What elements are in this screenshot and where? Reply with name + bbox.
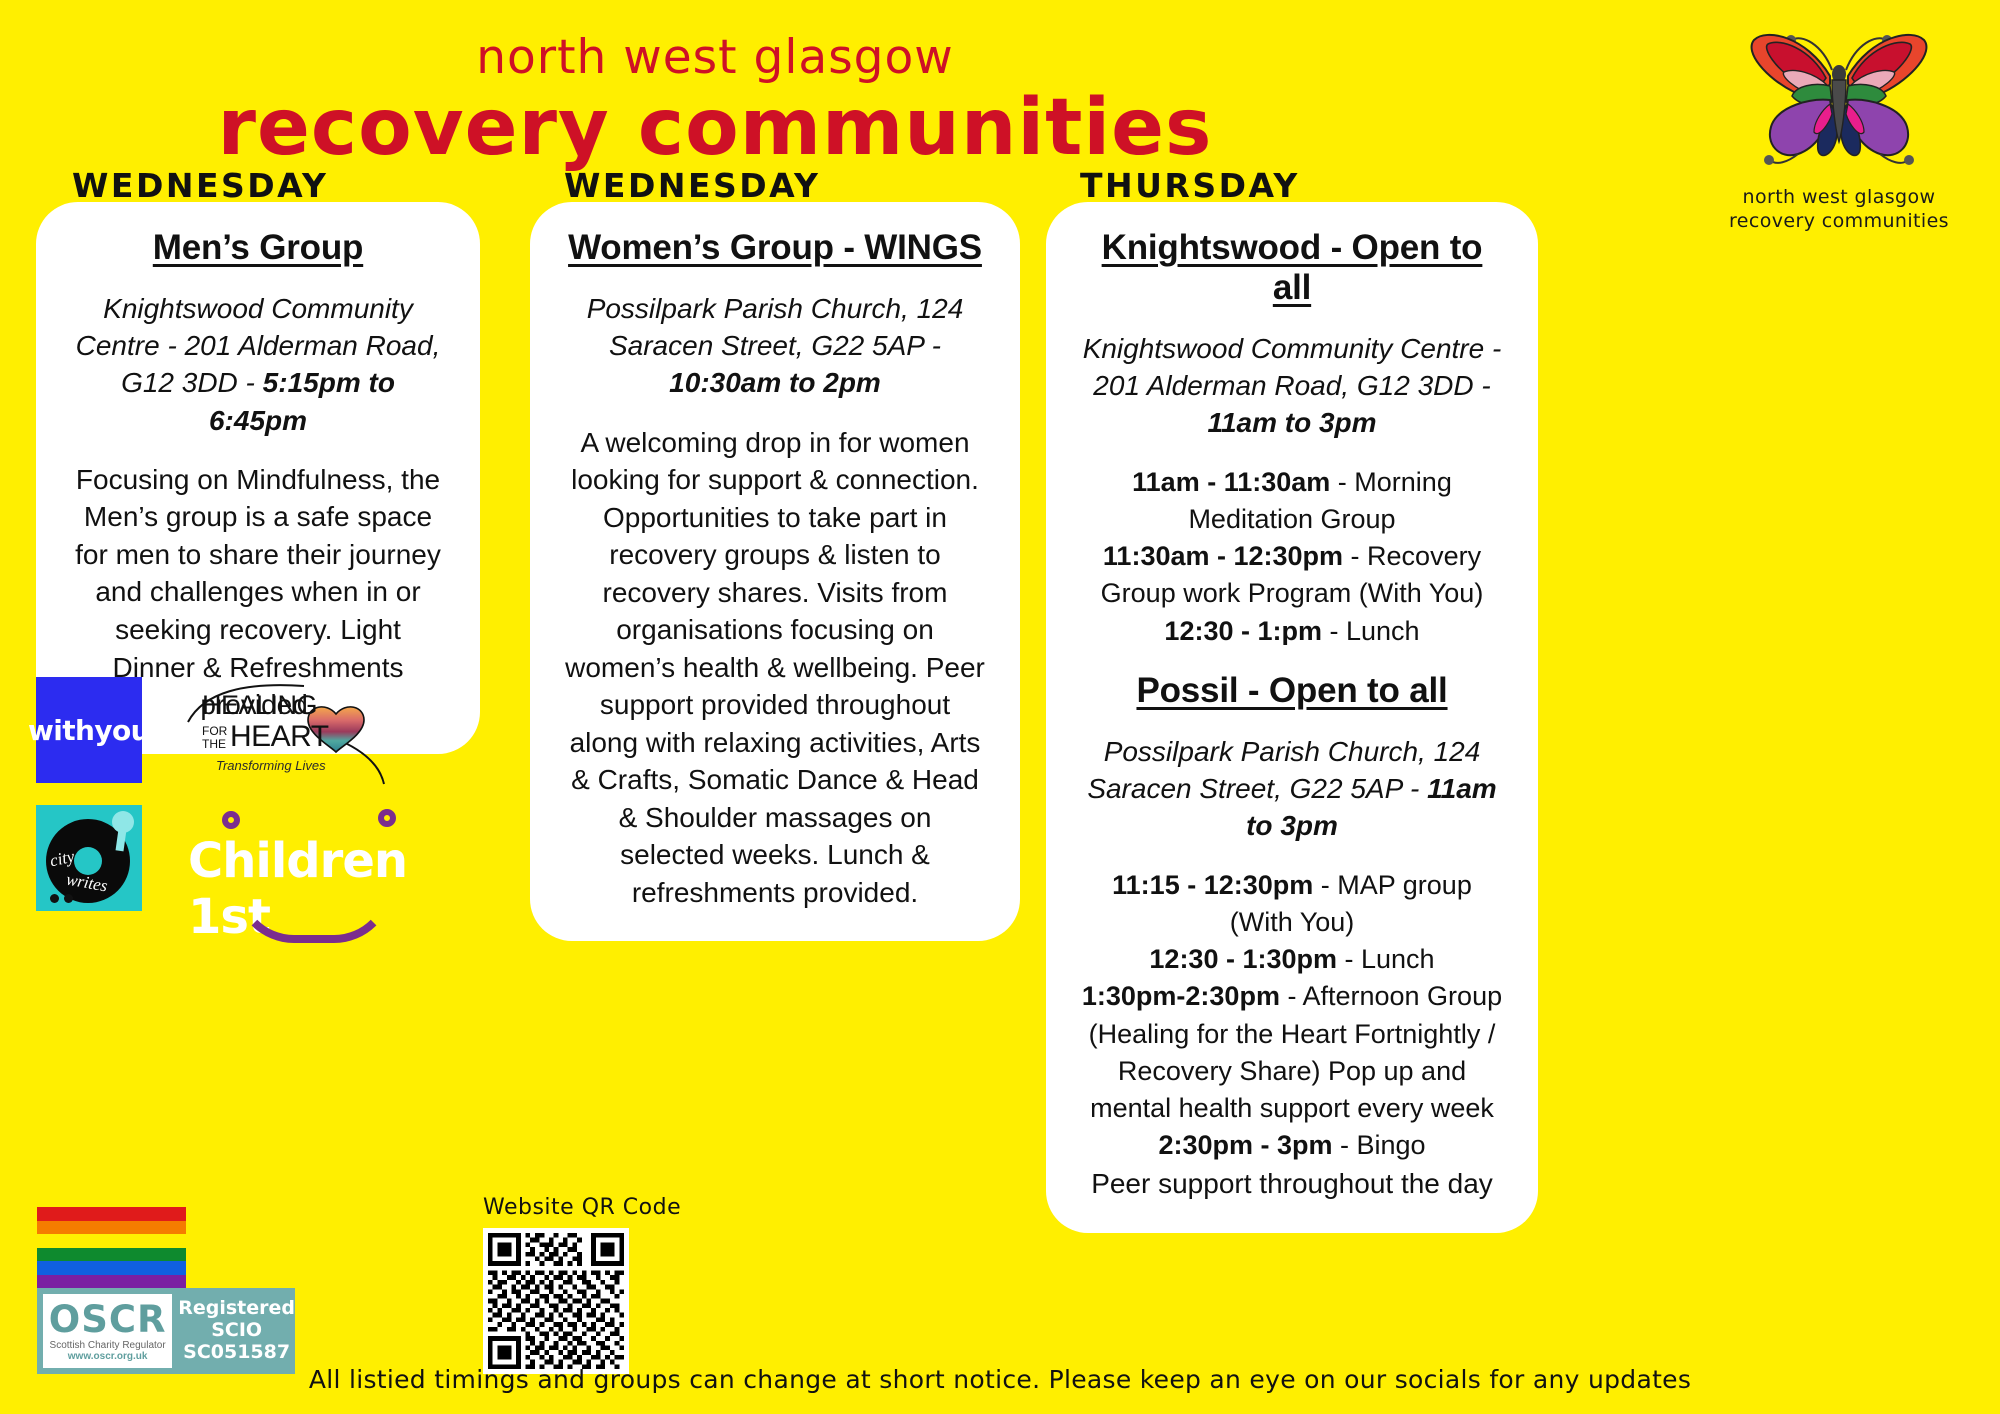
card-description: A welcoming drop in for women looking fo…: [564, 424, 986, 912]
card-venue: Knightswood Community Centre - 201 Alder…: [1080, 330, 1504, 442]
schedule-time: 12:30 - 1:pm: [1164, 616, 1322, 646]
day-label-wednesday-mens: WEDNESDAY: [72, 166, 328, 205]
schedule-activity: Lunch: [1346, 616, 1420, 646]
qr-caption: Website QR Code: [483, 1195, 681, 1220]
title-line-1: north west glasgow: [0, 34, 1430, 81]
children1st-dot-right-icon: [378, 809, 396, 827]
peer-support-note: Peer support throughout the day: [1080, 1165, 1504, 1203]
svg-text:THE: THE: [202, 737, 226, 751]
logo-caption-line-1: north west glasgow: [1714, 186, 1964, 210]
svg-text:HEALING: HEALING: [202, 690, 317, 720]
svg-text:FOR: FOR: [202, 724, 228, 738]
schedule-separator: -: [1330, 467, 1354, 497]
oscr-registered-badge: OSCR Scottish Charity Regulator www.oscr…: [37, 1288, 295, 1374]
children1st-dot-left-icon: [222, 811, 240, 829]
schedule-item: 1:30pm-2:30pm - Afternoon Group (Healing…: [1080, 978, 1504, 1127]
oscr-registration-details: Registered SCIO SC051587: [178, 1298, 295, 1364]
svg-text:HEART: HEART: [230, 720, 329, 753]
group-card-mens: Men’s Group Knightswood Community Centre…: [36, 202, 480, 754]
schedule-time: 11:30am - 12:30pm: [1103, 541, 1343, 571]
partner-logo-withyou: withyou: [36, 677, 142, 783]
card-venue-time: 10:30am to 2pm: [669, 367, 881, 398]
schedule-time: 11:15 - 12:30pm: [1112, 870, 1313, 900]
schedule-item: 12:30 - 1:30pm - Lunch: [1080, 941, 1504, 978]
schedule-separator: -: [1280, 981, 1303, 1011]
oscr-mark: OSCR Scottish Charity Regulator www.oscr…: [43, 1294, 172, 1368]
qr-code-icon[interactable]: [483, 1228, 629, 1374]
page-title: north west glasgow recovery communities: [0, 34, 1430, 167]
group-card-possil: Possil - Open to all Possilpark Parish C…: [1046, 645, 1538, 1233]
card-venue-address: Possilpark Parish Church, 124 Saracen St…: [1087, 736, 1480, 804]
card-venue-address: Possilpark Parish Church, 124 Saracen St…: [587, 293, 964, 361]
butterfly-icon: [1714, 14, 1964, 179]
oscr-subtitle: Scottish Charity Regulator: [50, 1340, 166, 1351]
schedule-separator: -: [1313, 870, 1337, 900]
card-venue: Possilpark Parish Church, 124 Saracen St…: [564, 290, 986, 402]
logo-caption-line-2: recovery communities: [1714, 210, 1964, 234]
group-card-womens: Women’s Group - WINGS Possilpark Parish …: [530, 202, 1020, 941]
schedule-item: 11:15 - 12:30pm - MAP group (With You): [1080, 867, 1504, 942]
day-label-thursday: THURSDAY: [1080, 166, 1300, 205]
poster-canvas: north west glasgow recovery communities: [0, 0, 2000, 1414]
card-title: Men’s Group: [70, 228, 446, 268]
schedule-activity: Lunch: [1361, 944, 1435, 974]
partner-logo-children-1st: Children 1st: [182, 805, 452, 930]
pride-flag-icon: [37, 1207, 186, 1289]
oscr-type: SCIO: [178, 1320, 295, 1342]
footer-disclaimer: All listied timings and groups can chang…: [0, 1365, 2000, 1394]
card-title: Women’s Group - WINGS: [564, 228, 986, 268]
partner-logo-city-writes: city writes: [36, 805, 142, 911]
withyou-label: withyou: [28, 714, 150, 747]
speaker-dots-icon: [50, 894, 73, 903]
oscr-number: SC051587: [178, 1342, 295, 1364]
schedule-time: 1:30pm-2:30pm: [1082, 981, 1280, 1011]
schedule-item: 11:30am - 12:30pm - Recovery Group work …: [1080, 538, 1504, 613]
schedule-time: 2:30pm - 3pm: [1158, 1130, 1332, 1160]
schedule-separator: -: [1333, 1130, 1357, 1160]
card-venue: Possilpark Parish Church, 124 Saracen St…: [1080, 733, 1504, 845]
schedule-activity: Bingo: [1357, 1130, 1426, 1160]
svg-text:Transforming Lives: Transforming Lives: [216, 758, 326, 773]
card-title: Possil - Open to all: [1080, 671, 1504, 711]
day-label-wednesday-womens: WEDNESDAY: [564, 166, 820, 205]
oscr-url: www.oscr.org.uk: [68, 1351, 148, 1362]
schedule-time: 12:30 - 1:30pm: [1149, 944, 1337, 974]
title-line-2: recovery communities: [0, 89, 1430, 167]
schedule-item: 11am - 11:30am - Morning Meditation Grou…: [1080, 464, 1504, 539]
partner-logo-healing-for-the-heart: HEALING FOR THE HEART Transforming Lives: [184, 680, 394, 785]
oscr-registered-label: Registered: [178, 1298, 295, 1320]
healing-heart-icon: HEALING FOR THE HEART Transforming Lives: [184, 680, 394, 785]
card-venue-address: Knightswood Community Centre - 201 Alder…: [1083, 333, 1502, 401]
card-title: Knightswood - Open to all: [1080, 228, 1504, 308]
schedule-item: 2:30pm - 3pm - Bingo: [1080, 1127, 1504, 1164]
schedule-separator: -: [1337, 944, 1361, 974]
schedule-separator: -: [1322, 616, 1346, 646]
card-venue-time: 11am to 3pm: [1207, 407, 1376, 438]
brand-logo: north west glasgow recovery communities: [1714, 14, 1964, 234]
website-qr-block: Website QR Code: [483, 1195, 681, 1379]
card-venue: Knightswood Community Centre - 201 Alder…: [70, 290, 446, 439]
oscr-name: OSCR: [49, 1301, 167, 1338]
schedule-time: 11am - 11:30am: [1132, 467, 1330, 497]
schedule-separator: -: [1343, 541, 1367, 571]
